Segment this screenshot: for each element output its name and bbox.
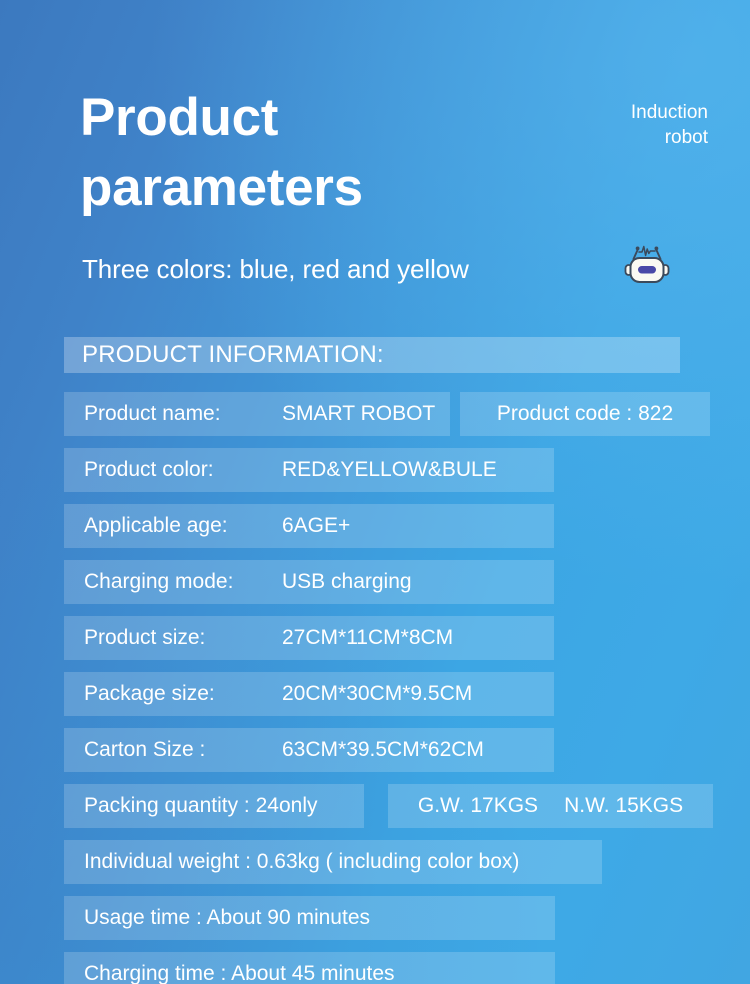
row-label: Product color: (64, 458, 282, 482)
row-packing-quantity: Packing quantity : 24only (64, 784, 364, 828)
table-row: Applicable age: 6AGE+ (0, 504, 750, 548)
row-label: Carton Size : (64, 738, 282, 762)
table-row: Package size: 20CM*30CM*9.5CM (0, 672, 750, 716)
table-row: Charging time : About 45 minutes (0, 952, 750, 984)
page-subtitle: Three colors: blue, red and yellow (82, 252, 469, 286)
page-title-line-2: parameters (80, 154, 550, 222)
row-label: Applicable age: (64, 514, 282, 538)
table-row: Carton Size : 63CM*39.5CM*62CM (0, 728, 750, 772)
row-label: Product name: (64, 402, 282, 426)
row-value: 20CM*30CM*9.5CM (282, 682, 472, 706)
product-info-table: Product name: SMART ROBOT Product code :… (0, 392, 750, 984)
row-value: 6AGE+ (282, 514, 350, 538)
row-inline-text: Charging time : About 45 minutes (64, 962, 415, 984)
row-package-size: Package size: 20CM*30CM*9.5CM (64, 672, 554, 716)
corner-label: Induction robot (558, 100, 708, 150)
row-product-size: Product size: 27CM*11CM*8CM (64, 616, 554, 660)
table-row: Product size: 27CM*11CM*8CM (0, 616, 750, 660)
table-row: Individual weight : 0.63kg ( including c… (0, 840, 750, 884)
row-product-code: Product code : 822 (460, 392, 710, 436)
row-carton-size: Carton Size : 63CM*39.5CM*62CM (64, 728, 554, 772)
row-charging-time: Charging time : About 45 minutes (64, 952, 555, 984)
table-row: Product color: RED&YELLOW&BULE (0, 448, 750, 492)
row-gross-weight: G.W. 17KGS (418, 794, 538, 818)
table-row: Packing quantity : 24only G.W. 17KGS N.W… (0, 784, 750, 828)
row-product-name: Product name: SMART ROBOT (64, 392, 450, 436)
row-value: RED&YELLOW&BULE (282, 458, 497, 482)
row-inline-text: Individual weight : 0.63kg ( including c… (64, 850, 539, 874)
row-label: Product size: (64, 626, 282, 650)
row-applicable-age: Applicable age: 6AGE+ (64, 504, 554, 548)
row-usage-time: Usage time : About 90 minutes (64, 896, 555, 940)
page-title-line-1: Product (80, 84, 550, 152)
row-aux-value: Product code : 822 (497, 402, 673, 426)
row-value: 63CM*39.5CM*62CM (282, 738, 484, 762)
row-value: SMART ROBOT (282, 402, 435, 426)
corner-label-line-1: Induction (558, 100, 708, 125)
section-header-product-information: PRODUCT INFORMATION: (64, 337, 680, 373)
table-row: Product name: SMART ROBOT Product code :… (0, 392, 750, 436)
row-net-weight: N.W. 15KGS (564, 794, 683, 818)
row-inline-text: Packing quantity : 24only (64, 794, 337, 818)
corner-label-line-2: robot (558, 125, 708, 150)
row-value: 27CM*11CM*8CM (282, 626, 453, 650)
table-row: Usage time : About 90 minutes (0, 896, 750, 940)
row-value: USB charging (282, 570, 412, 594)
section-header-text: PRODUCT INFORMATION: (64, 341, 384, 369)
row-label: Charging mode: (64, 570, 282, 594)
robot-head-icon (624, 240, 670, 284)
row-individual-weight: Individual weight : 0.63kg ( including c… (64, 840, 602, 884)
row-weights: G.W. 17KGS N.W. 15KGS (388, 784, 713, 828)
row-inline-text: Usage time : About 90 minutes (64, 906, 390, 930)
row-charging-mode: Charging mode: USB charging (64, 560, 554, 604)
row-product-color: Product color: RED&YELLOW&BULE (64, 448, 554, 492)
row-label: Package size: (64, 682, 282, 706)
product-parameters-poster: Product parameters Three colors: blue, r… (0, 0, 750, 984)
page-title: Product parameters (80, 84, 550, 222)
table-row: Charging mode: USB charging (0, 560, 750, 604)
